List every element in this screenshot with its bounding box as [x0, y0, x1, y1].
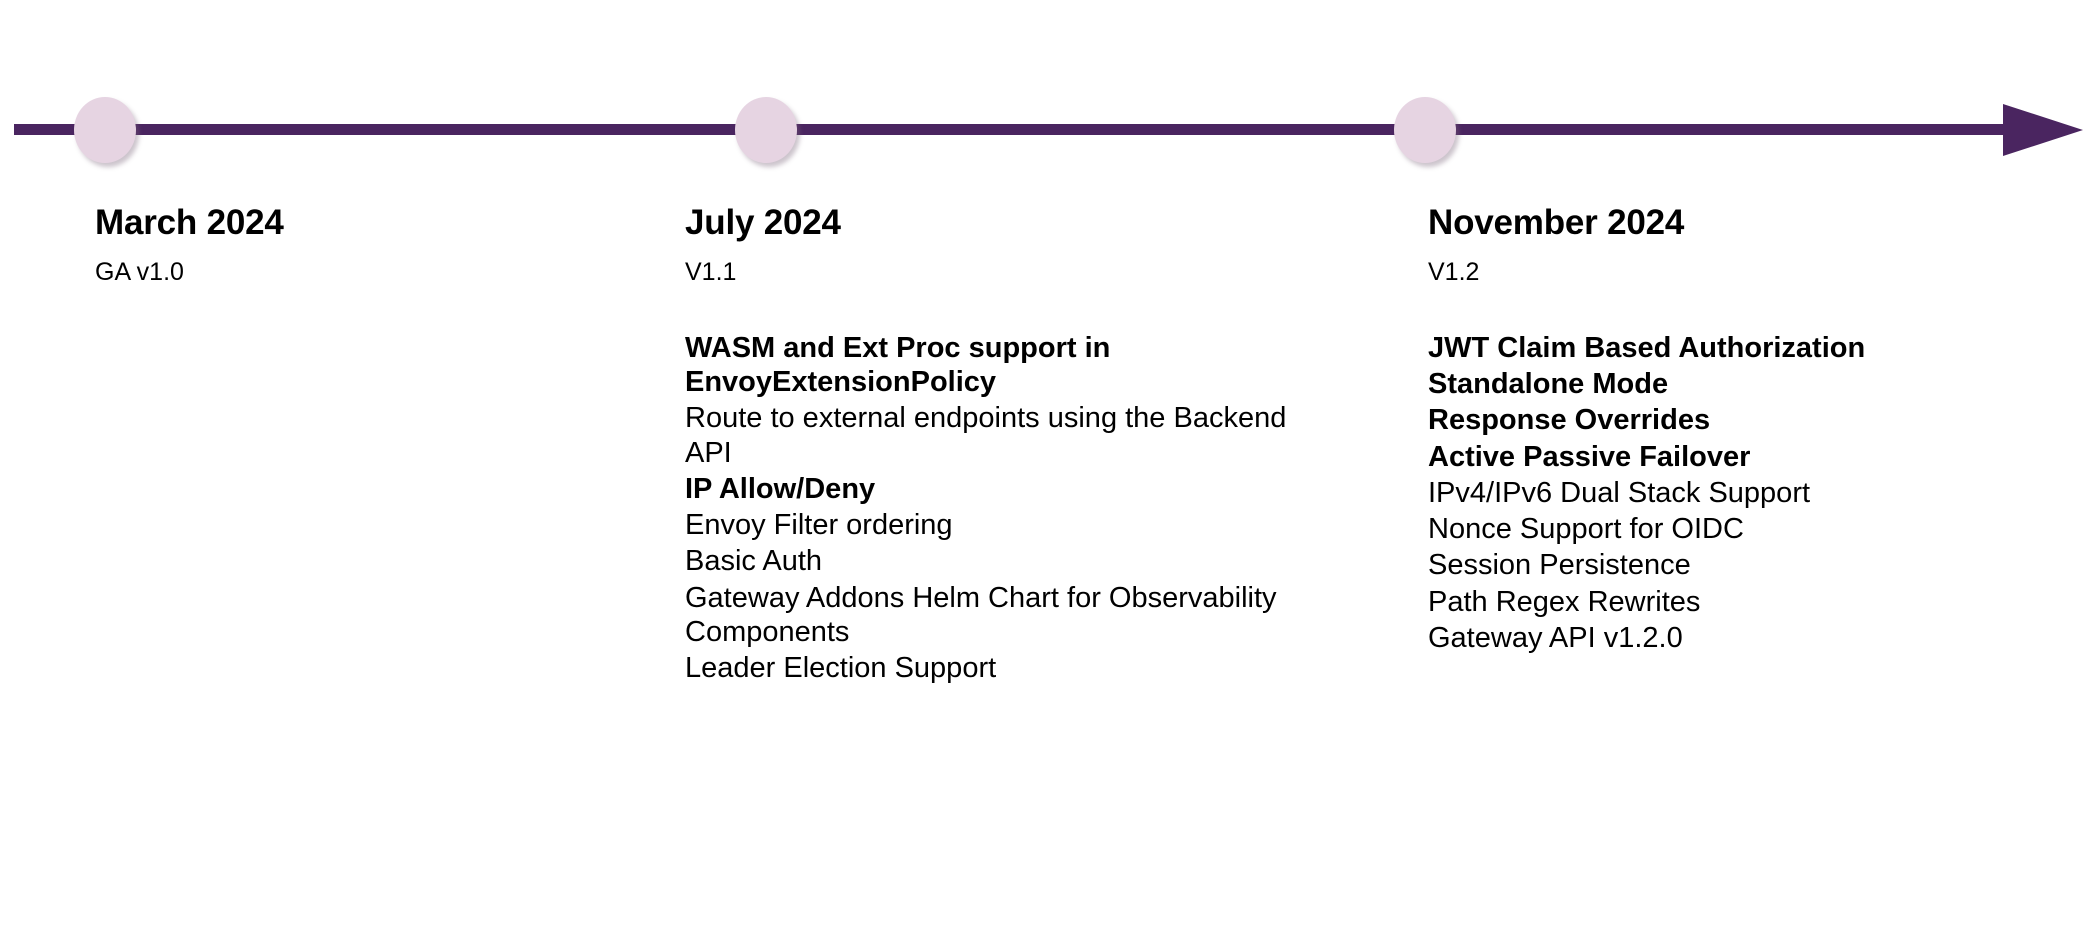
feature-item: Gateway Addons Helm Chart for Observabil…	[685, 581, 1305, 649]
milestone-marker-march-2024[interactable]	[74, 97, 136, 163]
timeline-arrowhead	[2003, 104, 2083, 156]
feature-item: WASM and Ext Proc support in EnvoyExtens…	[685, 331, 1305, 399]
milestone-feature-list-november-2024: JWT Claim Based AuthorizationStandalone …	[1428, 331, 2048, 655]
feature-item: Basic Auth	[685, 544, 1305, 578]
feature-item: IPv4/IPv6 Dual Stack Support	[1428, 476, 2048, 510]
feature-item: Envoy Filter ordering	[685, 508, 1305, 542]
feature-item: Active Passive Failover	[1428, 440, 2048, 474]
milestone-column-july-2024: July 2024 V1.1 WASM and Ext Proc support…	[685, 205, 1305, 687]
milestone-version: V1.1	[685, 260, 1305, 285]
timeline-diagram: March 2024 GA v1.0 July 2024 V1.1 WASM a…	[0, 0, 2097, 932]
feature-item: IP Allow/Deny	[685, 472, 1305, 506]
feature-item: Session Persistence	[1428, 548, 2048, 582]
feature-item: Route to external endpoints using the Ba…	[685, 401, 1305, 469]
feature-item: JWT Claim Based Authorization	[1428, 331, 2048, 365]
feature-item: Path Regex Rewrites	[1428, 585, 2048, 619]
milestone-heading: November 2024	[1428, 205, 2048, 240]
feature-item: Response Overrides	[1428, 403, 2048, 437]
milestone-heading: March 2024	[95, 205, 615, 240]
feature-item: Gateway API v1.2.0	[1428, 621, 2048, 655]
feature-item: Nonce Support for OIDC	[1428, 512, 2048, 546]
feature-item: Leader Election Support	[685, 651, 1305, 685]
milestone-version: V1.2	[1428, 260, 2048, 285]
milestone-feature-list-july-2024: WASM and Ext Proc support in EnvoyExtens…	[685, 331, 1305, 685]
milestone-version: GA v1.0	[95, 260, 615, 285]
milestone-marker-july-2024[interactable]	[735, 97, 797, 163]
milestone-column-november-2024: November 2024 V1.2 JWT Claim Based Autho…	[1428, 205, 2048, 657]
milestone-heading: July 2024	[685, 205, 1305, 240]
feature-item: Standalone Mode	[1428, 367, 2048, 401]
milestone-column-march-2024: March 2024 GA v1.0	[95, 205, 615, 331]
timeline-line	[14, 124, 2012, 135]
milestone-marker-november-2024[interactable]	[1394, 97, 1456, 163]
